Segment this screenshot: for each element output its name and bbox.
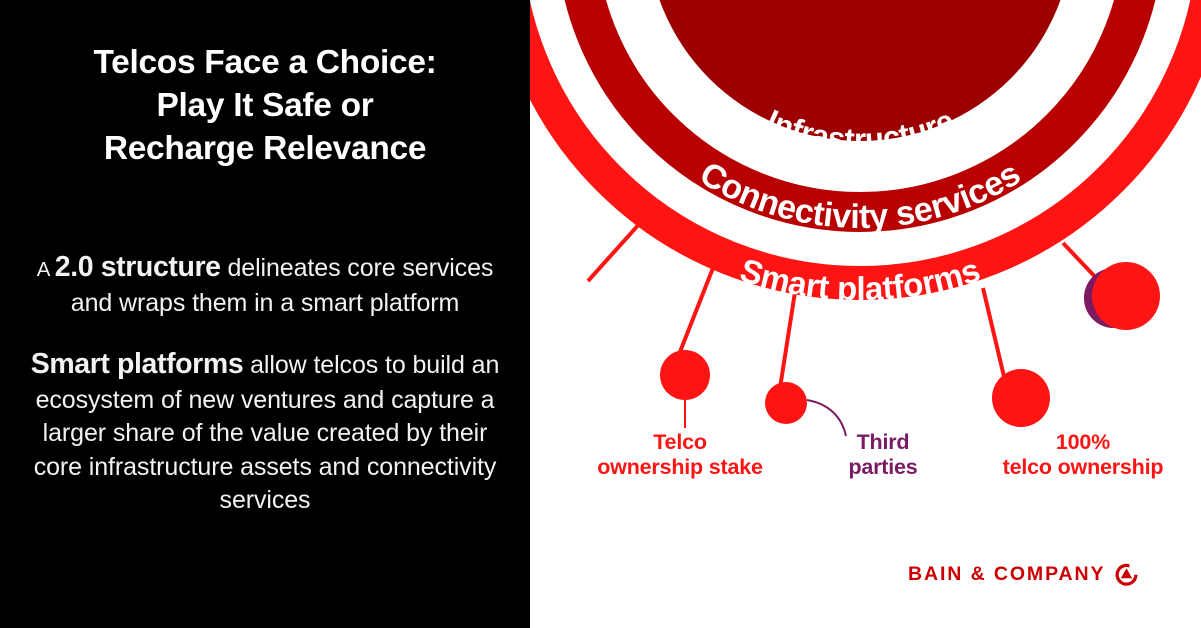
ownership-node-4 <box>992 369 1050 427</box>
ownership-node-2-red-base <box>660 350 710 400</box>
left-text-panel: Telcos Face a Choice: Play It Safe or Re… <box>0 0 530 628</box>
paragraph-structure: A 2.0 structure delineates core services… <box>30 249 500 320</box>
legend-label-third-parties: Third parties <box>798 430 968 481</box>
body-copy: A 2.0 structure delineates core services… <box>30 224 500 542</box>
legend-third-line-2: parties <box>798 455 968 480</box>
infographic-canvas: Telcos Face a Choice: Play It Safe or Re… <box>0 0 1201 628</box>
paragraph-smart-platforms: Smart platforms allow telcos to build an… <box>30 346 500 517</box>
ownership-node-5 <box>1092 262 1160 330</box>
connector-line-2 <box>676 268 713 362</box>
ownership-node-5-red-base <box>1092 262 1160 330</box>
bain-and-company-logo: BAIN & COMPANY <box>908 562 1139 587</box>
page-title: Telcos Face a Choice: Play It Safe or Re… <box>24 42 506 171</box>
bain-wordmark: BAIN & COMPANY <box>908 565 1105 585</box>
legend-third-line-1: Third <box>798 430 968 455</box>
ownership-node-3-red-base <box>765 382 807 424</box>
paragraph-1-prefix: A <box>37 258 55 281</box>
connector-line-3 <box>780 292 795 388</box>
legend-hundred-line-2: telco ownership <box>968 455 1198 480</box>
legend-label-100-telco-ownership: 100% telco ownership <box>968 430 1198 481</box>
paragraph-1-lead: 2.0 structure <box>55 251 221 283</box>
legend-telco-line-1: Telco <box>550 430 810 455</box>
bain-compass-icon <box>1114 562 1139 587</box>
legend-telco-line-2: ownership stake <box>550 455 810 480</box>
headline-line-3: Recharge Relevance <box>24 128 506 171</box>
ring-label-smart-platforms: Smart platforms <box>736 251 984 307</box>
headline-line-2: Play It Safe or <box>24 85 506 128</box>
legend-label-telco-ownership-stake: Telco ownership stake <box>550 430 810 481</box>
ring-infrastructure <box>647 0 1073 141</box>
headline-line-1: Telcos Face a Choice: <box>24 42 506 85</box>
paragraph-2-lead: Smart platforms <box>31 348 244 380</box>
ownership-node-3 <box>765 382 807 424</box>
right-diagram-panel: Infrastructure Connectivity services Sma… <box>530 0 1201 628</box>
ownership-node-2 <box>660 350 710 400</box>
legend-hundred-line-1: 100% <box>968 430 1198 455</box>
ownership-node-4-red-base <box>992 369 1050 427</box>
connector-line-4 <box>983 288 1006 385</box>
concentric-rings-diagram: Infrastructure Connectivity services Sma… <box>530 0 1201 628</box>
